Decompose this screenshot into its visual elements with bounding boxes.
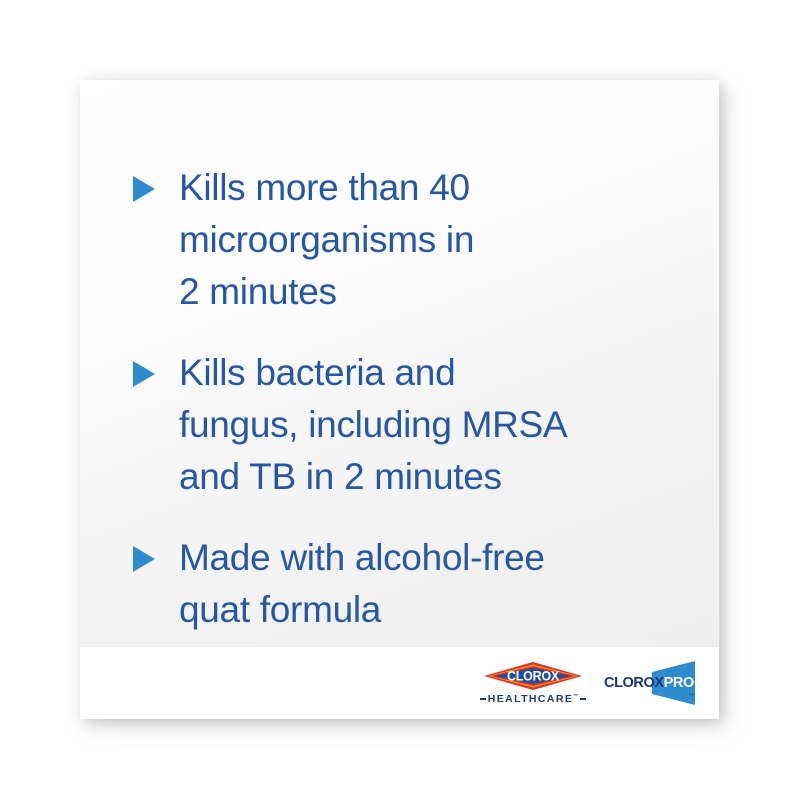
benefit-text: Made with alcohol-free quat formula	[179, 532, 705, 636]
triangle-right-icon	[133, 532, 179, 572]
trademark-icon: ™	[689, 693, 694, 699]
healthcare-wordmark: HEALTHCARE™	[480, 693, 586, 705]
healthcare-label: HEALTHCARE™	[486, 693, 581, 705]
product-benefits-card: Kills more than 40 microorganisms in 2 m…	[80, 80, 719, 719]
brand-footer: CLOROX HEALTHCARE™ CLOROXPRO ™	[80, 647, 719, 719]
clorox-healthcare-logo: CLOROX HEALTHCARE™	[480, 661, 586, 705]
cloroxpro-logo: CLOROXPRO ™	[604, 660, 696, 706]
cloroxpro-primary-label: CLOROX	[604, 675, 664, 691]
list-item: Kills more than 40 microorganisms in 2 m…	[133, 162, 705, 318]
list-item: Made with alcohol-free quat formula	[133, 532, 705, 636]
rule-right	[580, 698, 586, 700]
benefits-list: Kills more than 40 microorganisms in 2 m…	[133, 162, 705, 636]
trademark-icon: ™	[573, 694, 578, 700]
benefit-text: Kills more than 40 microorganisms in 2 m…	[179, 162, 705, 318]
cloroxpro-wordmark: CLOROXPRO	[604, 674, 696, 692]
clorox-diamond-icon: CLOROX	[480, 661, 586, 691]
triangle-right-icon	[133, 347, 179, 387]
triangle-right-icon	[133, 162, 179, 202]
svg-text:CLOROX: CLOROX	[507, 668, 559, 684]
screenshot-canvas: Kills more than 40 microorganisms in 2 m…	[0, 0, 800, 800]
benefit-text: Kills bacteria and fungus, including MRS…	[179, 347, 705, 503]
cloroxpro-secondary-label: PRO	[664, 675, 694, 691]
list-item: Kills bacteria and fungus, including MRS…	[133, 347, 705, 503]
